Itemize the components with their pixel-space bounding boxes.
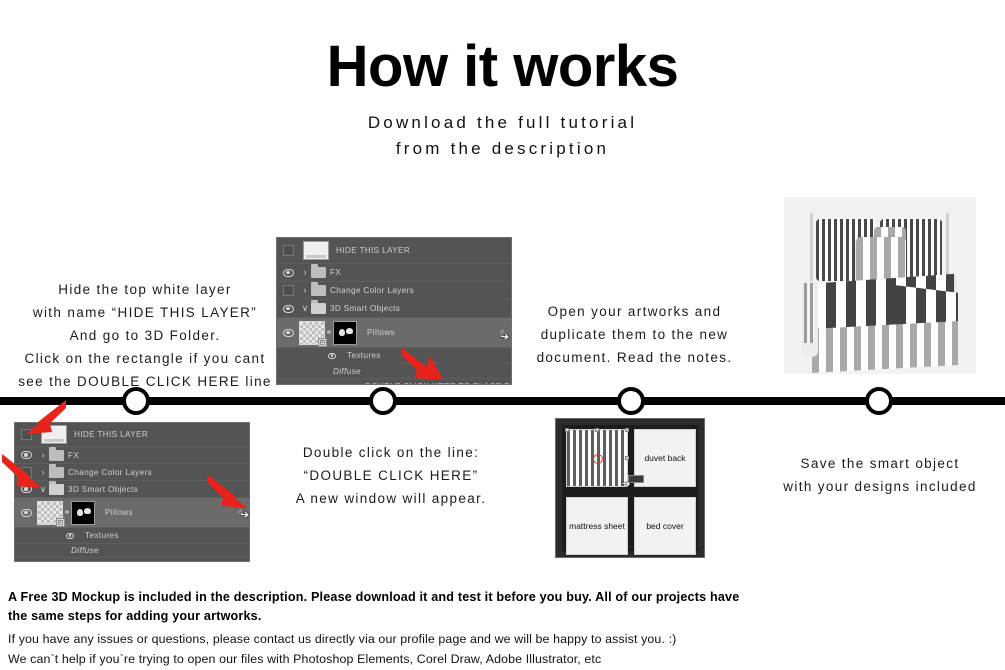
folder-icon-change-color-2 — [49, 467, 64, 478]
layer-label-diffuse: Diffuse — [333, 367, 361, 376]
artboard-window[interactable]: duvet back mattress sheet bed cover ➔ — [555, 418, 705, 558]
red-arrow-double-click-line — [400, 346, 446, 382]
mouse-cursor-icon-top-panel: ➔ — [499, 329, 510, 343]
eye-off-icon — [283, 285, 294, 296]
footer-bold-line-2: the same steps for adding your artworks. — [8, 607, 1000, 626]
layer-label-double-click-here: DOUBLE CLICK HERE TO PLACE DESIGNS — [365, 382, 512, 385]
eye-icon — [66, 533, 74, 539]
eye-icon — [21, 509, 32, 517]
layer-label-hide-this-layer-2: HIDE THIS LAYER — [74, 430, 148, 439]
layer-thumbnail-document-icon — [303, 241, 329, 260]
step-2-line-2: “DOUBLE CLICK HERE” — [272, 465, 510, 488]
artboard-tile-label-duvet-back: duvet back — [644, 453, 685, 463]
red-arrow-3d-smart-objects — [0, 452, 46, 490]
eye-icon — [346, 384, 354, 386]
layer-label-3d-smart-objects: 3D Smart Objects — [330, 304, 400, 313]
step-4-line-1: Save the smart object — [760, 453, 1000, 476]
step-3-line-2: duplicate them to the new — [512, 324, 757, 347]
layer-row-double-click-here-2[interactable]: DOUBLE CLICK HERE TO PLACE DESIGNS — [15, 558, 249, 562]
layer-row-hide-this-layer[interactable]: HIDE THIS LAYER — [277, 238, 511, 264]
layer-row-textures[interactable]: Textures — [277, 348, 511, 364]
layer-label-3d-smart-objects-2: 3D Smart Objects — [68, 485, 138, 494]
layers-panel-top[interactable]: HIDE THIS LAYER › FX › Change Color Laye… — [276, 237, 512, 385]
subtitle-line-1: Download the full tutorial — [0, 110, 1005, 136]
step-3-instructions: Open your artworks and duplicate them to… — [512, 301, 757, 370]
layer-mask-thumbnail-2 — [71, 501, 95, 525]
step-4-instructions: Save the smart object with your designs … — [760, 453, 1000, 499]
layer-row-change-color-layers[interactable]: › Change Color Layers — [277, 282, 511, 300]
footer-bold-line-1: A Free 3D Mockup is included in the desc… — [8, 588, 1000, 607]
layer-row-fx-2[interactable]: › FX — [15, 447, 249, 464]
visibility-toggle-pillows-2[interactable] — [15, 509, 37, 517]
red-selection-marker — [593, 454, 603, 464]
mask-blob-right-2 — [84, 508, 91, 514]
layer-label-hide-this-layer: HIDE THIS LAYER — [336, 246, 410, 255]
layer-mask-thumbnail — [333, 321, 357, 345]
footer-plain-line-1: If you have any issues or questions, ple… — [8, 630, 1000, 650]
chevron-down-icon-3d-smart-objects[interactable]: ∨ — [299, 304, 311, 313]
timeline-node-3 — [617, 387, 645, 415]
artboard-tile-striped[interactable] — [566, 429, 628, 487]
page-subtitle: Download the full tutorial from the desc… — [0, 110, 1005, 163]
visibility-toggle-fx[interactable] — [277, 269, 299, 277]
visibility-toggle-textures[interactable] — [321, 353, 343, 359]
mouse-cursor-icon-artboard: ➔ — [621, 478, 631, 490]
visibility-toggle-3d-smart-objects[interactable] — [277, 305, 299, 313]
bed-mockup-preview-image — [784, 197, 976, 374]
layer-label-double-click-here-2: DOUBLE CLICK HERE TO PLACE DESIGNS — [103, 561, 250, 562]
layer-label-pillows: Pillows — [367, 328, 395, 337]
link-layers-icon-2[interactable]: ⚭ — [63, 507, 71, 518]
layer-row-diffuse-2[interactable]: Diffuse — [15, 544, 249, 558]
red-arrow-pillows-expand — [205, 472, 249, 510]
eye-icon — [328, 353, 336, 359]
layer-row-pillows[interactable]: ◰ ⚭ Pillows ˄ — [277, 318, 511, 348]
eye-icon — [283, 329, 294, 337]
visibility-toggle-pillows[interactable] — [277, 329, 299, 337]
step-3-line-1: Open your artworks and — [512, 301, 757, 324]
layer-row-double-click-here[interactable]: DOUBLE CLICK HERE TO PLACE DESIGNS — [277, 379, 511, 385]
layer-label-change-color-layers-2: Change Color Layers — [68, 468, 152, 477]
subtitle-line-2: from the description — [0, 136, 1005, 162]
visibility-toggle-double-click-here[interactable] — [339, 384, 361, 386]
step-1-instructions: Hide the top white layer with name “HIDE… — [4, 279, 286, 394]
step-1-line-2: with name “HIDE THIS LAYER” — [4, 302, 286, 325]
step-3-line-3: document. Read the notes. — [512, 347, 757, 370]
layer-thumbnail-smart-object-icon-2: ◰ — [37, 501, 63, 525]
eye-icon — [283, 305, 294, 313]
layer-label-change-color-layers: Change Color Layers — [330, 286, 414, 295]
step-2-line-3: A new window will appear. — [272, 488, 510, 511]
artboard-tile-label-bed-cover: bed cover — [646, 521, 683, 531]
visibility-toggle-textures-2[interactable] — [59, 533, 81, 539]
artboard-tile-mattress-sheet[interactable]: mattress sheet — [566, 497, 628, 555]
layer-row-textures-2[interactable]: Textures — [15, 528, 249, 544]
step-1-line-5: see the DOUBLE CLICK HERE line — [4, 371, 286, 394]
folder-open-icon-3d-smart-objects — [311, 303, 326, 314]
layer-label-pillows-2: Pillows — [105, 508, 133, 517]
mask-blob-left-2 — [77, 509, 83, 516]
chevron-right-icon-change-color[interactable]: › — [299, 286, 311, 295]
step-1-line-1: Hide the top white layer — [4, 279, 286, 302]
folder-icon-fx — [311, 267, 326, 278]
step-2-instructions: Double click on the line: “DOUBLE CLICK … — [272, 442, 510, 511]
visibility-toggle-change-color-layers[interactable] — [277, 285, 299, 296]
link-layers-icon[interactable]: ⚭ — [325, 327, 333, 338]
layer-row-fx[interactable]: › FX — [277, 264, 511, 282]
folder-open-icon-3d-smart-objects-2 — [49, 484, 64, 495]
layer-thumbnail-smart-object-icon: ◰ — [299, 321, 325, 345]
eye-icon — [283, 269, 294, 277]
timeline-bar — [0, 397, 1005, 405]
mask-blob-right — [346, 328, 353, 334]
layer-label-fx: FX — [330, 268, 341, 277]
smart-object-badge-icon: ◰ — [318, 338, 327, 347]
layer-label-textures: Textures — [347, 351, 381, 360]
step-1-line-4: Click on the rectangle if you cant — [4, 348, 286, 371]
layer-label-fx-2: FX — [68, 451, 79, 460]
artboard-tile-bed-cover[interactable]: bed cover — [634, 497, 696, 555]
smart-object-badge-icon-2: ◰ — [56, 518, 65, 527]
artboard-canvas: duvet back mattress sheet bed cover — [562, 425, 698, 551]
artboard-tile-label-mattress-sheet: mattress sheet — [569, 521, 625, 531]
step-2-line-1: Double click on the line: — [272, 442, 510, 465]
chevron-right-icon-fx[interactable]: › — [299, 268, 311, 277]
timeline-node-4 — [865, 387, 893, 415]
footer-text-block: A Free 3D Mockup is included in the desc… — [8, 588, 1000, 670]
eye-off-icon — [283, 245, 294, 256]
step-1-line-3: And go to 3D Folder. — [4, 325, 286, 348]
layer-row-diffuse[interactable]: Diffuse — [277, 364, 511, 379]
page-title: How it works — [0, 38, 1005, 96]
mask-blob-left — [339, 329, 345, 336]
step-4-line-2: with your designs included — [760, 476, 1000, 499]
layer-row-3d-smart-objects[interactable]: ∨ 3D Smart Objects — [277, 300, 511, 318]
visibility-toggle-hide-this-layer[interactable] — [277, 245, 299, 256]
layer-label-textures-2: Textures — [85, 531, 119, 540]
timeline-node-2 — [369, 387, 397, 415]
header: How it works Download the full tutorial … — [0, 0, 1005, 163]
red-arrow-hide-layer — [22, 398, 68, 436]
layer-label-diffuse-2: Diffuse — [71, 546, 99, 555]
footer-plain-line-2: We can`t help if you`re trying to open o… — [8, 650, 1000, 670]
folder-icon-fx-2 — [49, 450, 64, 461]
folder-icon-change-color — [311, 285, 326, 296]
